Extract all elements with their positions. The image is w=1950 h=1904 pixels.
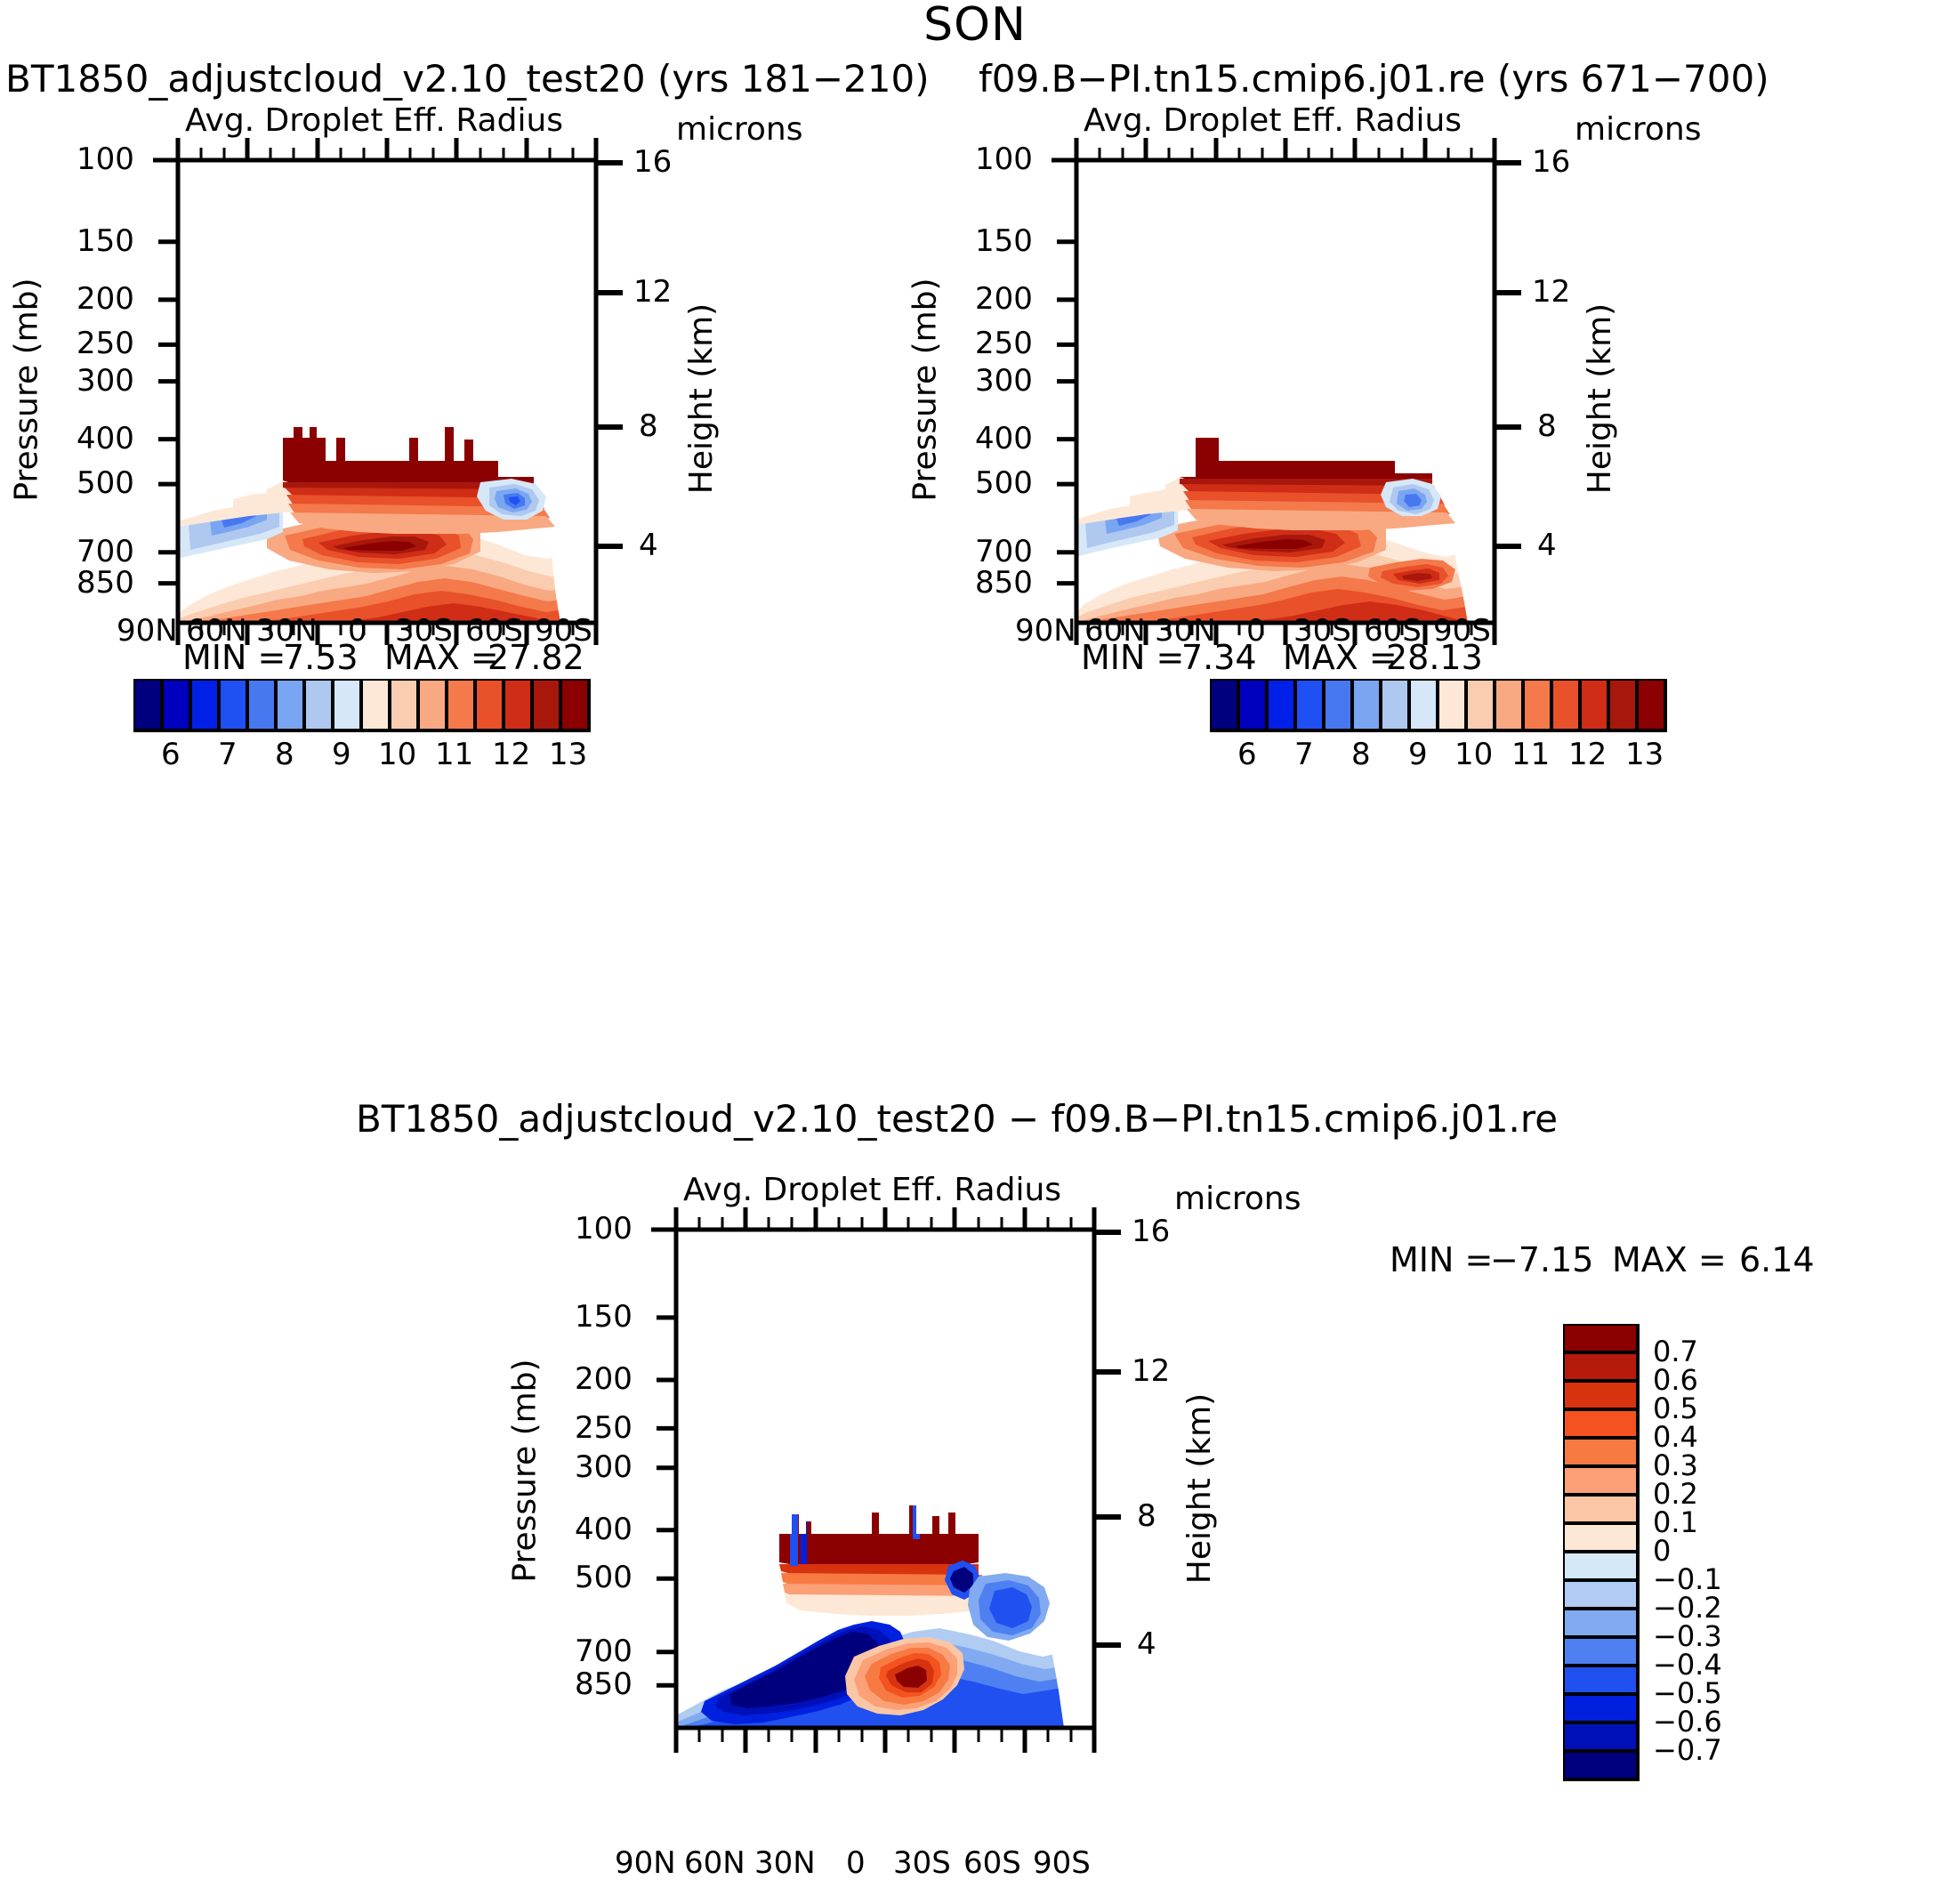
max-label-bottom-diff: MAX =	[1612, 1243, 1727, 1277]
colorbar-cell	[418, 679, 447, 730]
pressure-tick-100: 100	[575, 1214, 633, 1244]
colorbar-svg-top-left[interactable]	[133, 679, 596, 732]
colorbar-cell	[1563, 1722, 1638, 1751]
cbar-tick-7: 7	[218, 739, 238, 770]
colorbar-tick-label: −0.5	[1653, 1679, 1722, 1707]
variable-label-top-left: Avg. Droplet Eff. Radius	[185, 105, 563, 137]
colorbar-tick-label: 0.5	[1653, 1394, 1698, 1423]
pressure-tick-150: 150	[975, 226, 1033, 256]
pressure-tick-300: 300	[975, 366, 1033, 396]
colorbar-cell	[532, 679, 560, 730]
height-tick-12: 12	[1132, 1356, 1170, 1386]
page-title: SON	[0, 2, 1950, 48]
colorbar-tick-label: 0.2	[1653, 1480, 1698, 1508]
height-tick-4: 4	[639, 530, 658, 561]
min-label-bottom-diff: MIN =	[1390, 1243, 1493, 1277]
colorbar-cell	[504, 679, 532, 730]
pressure-ticks-bottom-diff	[651, 1230, 676, 1685]
pressure-tick-400: 400	[975, 424, 1033, 454]
colorbar-tick-label: −0.6	[1653, 1707, 1722, 1736]
cbar-tick-9: 9	[1408, 739, 1428, 770]
plot-svg-top-left	[0, 133, 979, 676]
colorbar-cell	[1563, 1694, 1638, 1722]
colorbar-cell	[560, 679, 589, 730]
lat-tick-90N: 90N	[117, 616, 178, 646]
colorbar-tick-label: −0.7	[1653, 1736, 1722, 1764]
pressure-tick-400: 400	[575, 1514, 633, 1545]
plot-top-left	[0, 133, 979, 676]
pressure-ticks-top-right	[1052, 160, 1076, 584]
colorbar-cell	[1563, 1466, 1638, 1495]
cbar-tick-11: 11	[1511, 739, 1550, 770]
colorbar-tick-label: −0.3	[1653, 1622, 1722, 1650]
pressure-tick-300: 300	[77, 366, 134, 396]
colorbar-bottom-diff[interactable]	[1563, 1324, 1643, 1787]
max-value-bottom-diff: 6.14	[1739, 1243, 1815, 1277]
colorbar-cell	[276, 679, 304, 730]
colorbar-tick-label: 0.1	[1653, 1508, 1698, 1537]
colorbar-svg-top-right[interactable]	[1210, 679, 1672, 732]
height-tick-4: 4	[1537, 530, 1557, 561]
top-axis-ticks-bottom-diff	[676, 1207, 1094, 1230]
pressure-tick-100: 100	[975, 144, 1033, 174]
colorbar-cell	[1438, 679, 1466, 730]
colorbar-cell	[1637, 679, 1665, 730]
min-value-top-right: 7.34	[1181, 641, 1257, 674]
pressure-axis-label-top-left: Pressure (mb)	[12, 278, 44, 501]
colorbar-cell	[1580, 679, 1608, 730]
colorbar-cell	[133, 679, 162, 730]
colorbar-cell	[1563, 1751, 1638, 1779]
pressure-tick-400: 400	[77, 424, 134, 454]
lat-tick-30N: 30N	[754, 1848, 816, 1878]
panel-title-top-left: BT1850_adjustcloud_v2.10_test20 (yrs 181…	[5, 61, 930, 98]
pressure-tick-250: 250	[77, 328, 134, 359]
pressure-tick-200: 200	[975, 284, 1033, 314]
colorbar-cell	[1495, 679, 1523, 730]
height-tick-12: 12	[633, 277, 672, 307]
colorbar-cell	[1324, 679, 1352, 730]
colorbar-cell	[1210, 679, 1238, 730]
colorbar-cell	[475, 679, 504, 730]
colorbar-cell	[1409, 679, 1438, 730]
height-tick-8: 8	[639, 411, 658, 441]
colorbar-cell	[1608, 679, 1637, 730]
height-ticks-bottom-diff	[1094, 1232, 1121, 1645]
pressure-tick-200: 200	[77, 284, 134, 314]
colorbar-cell	[162, 679, 190, 730]
colorbar-cell	[1563, 1324, 1638, 1352]
height-axis-label-top-left: Height (km)	[686, 303, 718, 494]
pressure-axis-label-top-right: Pressure (mb)	[910, 278, 942, 501]
max-label-top-right: MAX =	[1283, 641, 1398, 674]
colorbar-cell	[1238, 679, 1267, 730]
min-value-top-left: 7.53	[283, 641, 359, 674]
top-axis-ticks-top-right	[1076, 138, 1495, 160]
cbar-tick-8: 8	[1351, 739, 1371, 770]
cbar-tick-7: 7	[1294, 739, 1314, 770]
colorbar-cell	[1551, 679, 1580, 730]
colorbar-top-right[interactable]	[1210, 679, 1672, 732]
colorbar-cell	[1352, 679, 1381, 730]
pressure-tick-250: 250	[975, 328, 1033, 359]
pressure-tick-250: 250	[575, 1413, 633, 1443]
cbar-tick-12: 12	[1568, 739, 1607, 770]
colorbar-tick-label: 0.7	[1653, 1337, 1698, 1366]
pressure-tick-850: 850	[77, 568, 134, 598]
pressure-tick-500: 500	[575, 1562, 633, 1593]
cbar-tick-8: 8	[275, 739, 294, 770]
height-tick-16: 16	[1532, 147, 1570, 177]
height-tick-16: 16	[633, 147, 672, 177]
lat-tick-90N: 90N	[615, 1848, 676, 1878]
bottom-axis-ticks-bottom-diff	[676, 1728, 1094, 1753]
colorbar-tick-label: 0.6	[1653, 1366, 1698, 1394]
colorbar-cell	[1267, 679, 1295, 730]
height-axis-label-top-right: Height (km)	[1584, 303, 1616, 494]
cbar-tick-6: 6	[1237, 739, 1257, 770]
min-label-top-right: MIN =	[1081, 641, 1184, 674]
contour-field-bottom-diff	[676, 1230, 1094, 1728]
cbar-tick-11: 11	[435, 739, 473, 770]
lat-tick-90S: 90S	[1033, 1848, 1091, 1878]
colorbar-tick-label: −0.1	[1653, 1565, 1722, 1593]
contour-field-top-right	[1076, 160, 1495, 623]
cbar-tick-13: 13	[549, 739, 587, 770]
pressure-tick-700: 700	[575, 1636, 633, 1666]
height-tick-16: 16	[1132, 1216, 1170, 1246]
colorbar-cell	[447, 679, 475, 730]
pressure-tick-300: 300	[575, 1452, 633, 1482]
pressure-tick-500: 500	[77, 468, 134, 498]
panel-title-top-right: f09.B−PI.tn15.cmip6.j01.re (yrs 671−700)	[979, 61, 1769, 98]
pressure-tick-700: 700	[975, 537, 1033, 567]
colorbar-cell	[390, 679, 418, 730]
colorbar-cell	[1563, 1409, 1638, 1438]
cbar-tick-6: 6	[161, 739, 181, 770]
lat-tick-90N: 90N	[1015, 616, 1076, 646]
pressure-ticks-top-left	[153, 160, 178, 584]
cbar-tick-9: 9	[332, 739, 351, 770]
pressure-tick-100: 100	[77, 144, 134, 174]
max-value-top-left: 27.82	[487, 641, 584, 674]
height-axis-label-bottom-diff: Height (km)	[1184, 1393, 1216, 1584]
cbar-tick-10: 10	[378, 739, 416, 770]
contour-field-top-left	[178, 160, 596, 623]
cbar-tick-13: 13	[1625, 739, 1664, 770]
top-axis-ticks-top-left	[178, 138, 596, 160]
height-tick-4: 4	[1137, 1629, 1156, 1659]
cbar-tick-10: 10	[1454, 739, 1493, 770]
pressure-tick-500: 500	[975, 468, 1033, 498]
colorbar-svg-bottom-diff[interactable]	[1563, 1324, 1643, 1787]
colorbar-cell	[1563, 1637, 1638, 1666]
height-tick-12: 12	[1532, 277, 1570, 307]
lat-tick-0: 0	[846, 1848, 866, 1878]
colorbar-cell	[1563, 1381, 1638, 1409]
colorbar-cell	[219, 679, 247, 730]
pressure-tick-150: 150	[575, 1302, 633, 1332]
colorbar-tick-label: −0.2	[1653, 1593, 1722, 1622]
height-ticks-top-left	[596, 163, 623, 546]
plot-svg-bottom-diff	[498, 1203, 1477, 1772]
colorbar-top-left[interactable]	[133, 679, 596, 732]
pressure-tick-700: 700	[77, 537, 134, 567]
colorbar-tick-label: 0	[1653, 1537, 1671, 1565]
height-ticks-top-right	[1495, 163, 1521, 546]
colorbar-cell	[1381, 679, 1409, 730]
colorbar-cell	[1563, 1352, 1638, 1381]
plot-bottom-diff	[498, 1203, 1477, 1772]
colorbar-cell	[1563, 1666, 1638, 1694]
pressure-tick-150: 150	[77, 226, 134, 256]
colorbar-cell	[247, 679, 276, 730]
lat-tick-60S: 60S	[963, 1848, 1021, 1878]
colorbar-cell	[1563, 1495, 1638, 1523]
lat-tick-60N: 60N	[684, 1848, 745, 1878]
colorbar-cell	[1563, 1523, 1638, 1552]
colorbar-tick-label: 0.3	[1653, 1451, 1698, 1480]
colorbar-cell	[1466, 679, 1495, 730]
panel-title-bottom-diff: BT1850_adjustcloud_v2.10_test20 − f09.B−…	[356, 1101, 1558, 1138]
pressure-tick-850: 850	[975, 568, 1033, 598]
cbar-tick-12: 12	[492, 739, 530, 770]
pressure-axis-label-bottom-diff: Pressure (mb)	[510, 1359, 542, 1582]
max-value-top-right: 28.13	[1386, 641, 1483, 674]
colorbar-tick-label: 0.4	[1653, 1423, 1698, 1451]
colorbar-cell	[190, 679, 219, 730]
colorbar-cell	[1523, 679, 1551, 730]
colorbar-cell	[304, 679, 333, 730]
max-label-top-left: MAX =	[384, 641, 499, 674]
colorbar-cell	[1563, 1580, 1638, 1609]
colorbar-cell	[361, 679, 390, 730]
variable-label-bottom-diff: Avg. Droplet Eff. Radius	[683, 1174, 1061, 1206]
lat-tick-30S: 30S	[893, 1848, 951, 1878]
plot-svg-top-right	[898, 133, 1877, 676]
colorbar-cell	[1563, 1438, 1638, 1466]
colorbar-tick-label: −0.4	[1653, 1650, 1722, 1679]
pressure-tick-200: 200	[575, 1364, 633, 1394]
colorbar-cell	[1563, 1609, 1638, 1637]
pressure-tick-850: 850	[575, 1669, 633, 1699]
min-value-bottom-diff: −7.15	[1490, 1243, 1593, 1277]
min-label-top-left: MIN =	[182, 641, 286, 674]
colorbar-ticklabels-bottom-diff: 0.70.60.50.40.30.20.10−0.1−0.2−0.3−0.4−0…	[1653, 1324, 1831, 1787]
plot-top-right	[898, 133, 1877, 676]
variable-label-top-right: Avg. Droplet Eff. Radius	[1084, 105, 1462, 137]
colorbar-cell	[1295, 679, 1324, 730]
height-tick-8: 8	[1137, 1501, 1156, 1531]
colorbar-cell	[333, 679, 361, 730]
height-tick-8: 8	[1537, 411, 1557, 441]
colorbar-cell	[1563, 1552, 1638, 1580]
